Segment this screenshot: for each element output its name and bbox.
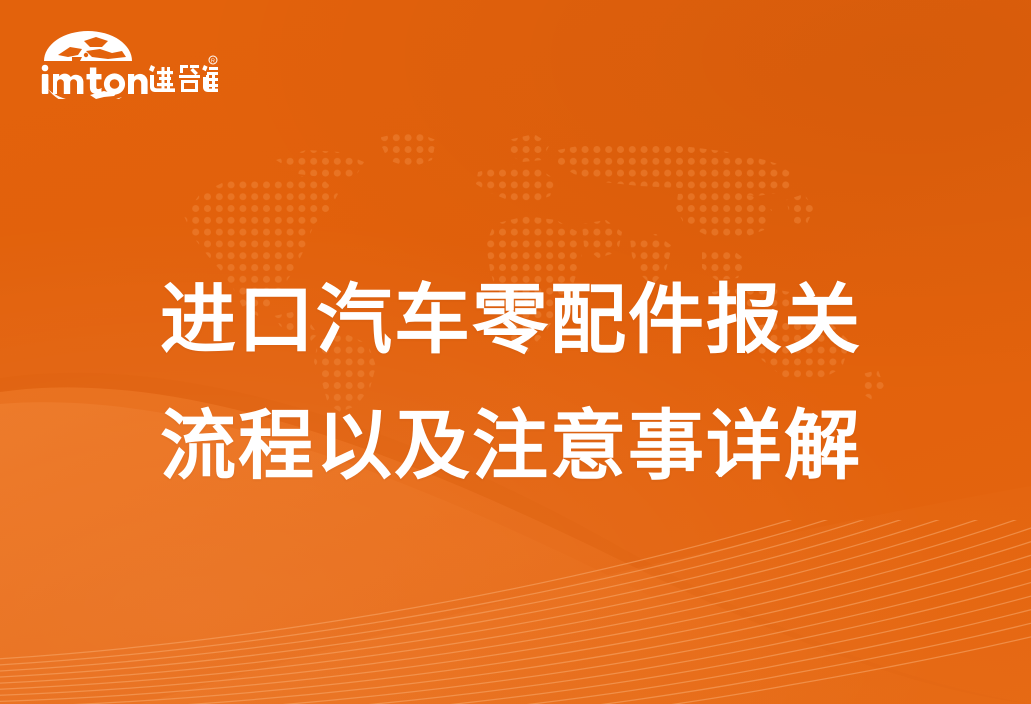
globe-dome-icon	[38, 27, 138, 67]
page-title: 进口汽车零配件报关 流程以及注意事详解	[160, 258, 900, 510]
trademark-glyph: R	[211, 59, 215, 65]
logo-wordmark-latin	[42, 65, 148, 95]
logo-wordmark-chinese	[149, 65, 218, 92]
title-line-1: 进口汽车零配件报关	[160, 258, 900, 384]
imton-logo[interactable]: R	[38, 27, 218, 99]
promo-banner: R 进口汽车零配件报关 流程以及注意事详解	[0, 0, 1031, 704]
title-line-2: 流程以及注意事详解	[160, 384, 900, 510]
